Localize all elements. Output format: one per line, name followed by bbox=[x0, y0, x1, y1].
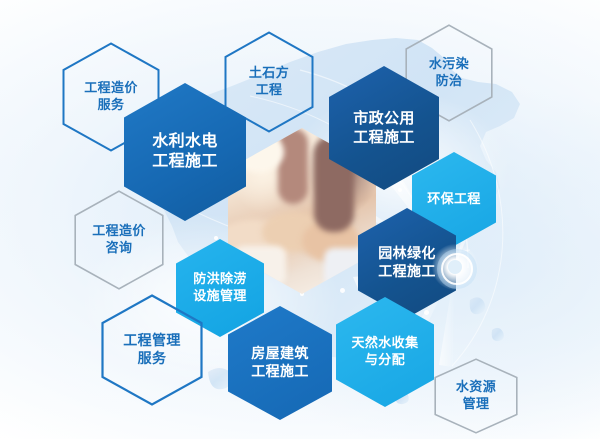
hex-gongcheng-zaojia-zixun[interactable]: 工程造价 咨询 bbox=[74, 190, 164, 290]
hex-label: 天然水收集 与分配 bbox=[347, 335, 422, 368]
sparkle-dot bbox=[424, 310, 429, 315]
hex-label: 水利水电 工程施工 bbox=[148, 132, 222, 173]
sparkle-dot bbox=[398, 188, 402, 192]
hex-gongcheng-guanli-fuwu[interactable]: 工程管理 服务 bbox=[101, 294, 203, 406]
sparkle-dot bbox=[214, 236, 218, 240]
infographic-canvas: 工程造价 服务 土石方 工程 水污染 防治 水利水电 工程施工 市政公用 bbox=[0, 0, 600, 439]
hex-label: 水资源 管理 bbox=[452, 379, 500, 412]
hex-label: 环保工程 bbox=[423, 191, 485, 208]
network-node-icon bbox=[448, 260, 462, 274]
sparkle-dot bbox=[340, 288, 345, 293]
hex-label: 工程造价 服务 bbox=[80, 80, 142, 113]
hex-label: 土石方 工程 bbox=[245, 65, 293, 98]
hex-label: 园林绿化 工程施工 bbox=[374, 245, 440, 281]
hex-label: 房屋建筑 工程施工 bbox=[247, 345, 313, 381]
hex-shuiziyuan-guanli[interactable]: 水资源 管理 bbox=[434, 358, 518, 434]
hex-label: 水污染 防治 bbox=[425, 56, 473, 89]
hex-label: 工程造价 咨询 bbox=[88, 223, 150, 256]
hex-label: 市政公用 工程施工 bbox=[349, 109, 419, 147]
hex-label: 工程管理 服务 bbox=[119, 332, 185, 368]
